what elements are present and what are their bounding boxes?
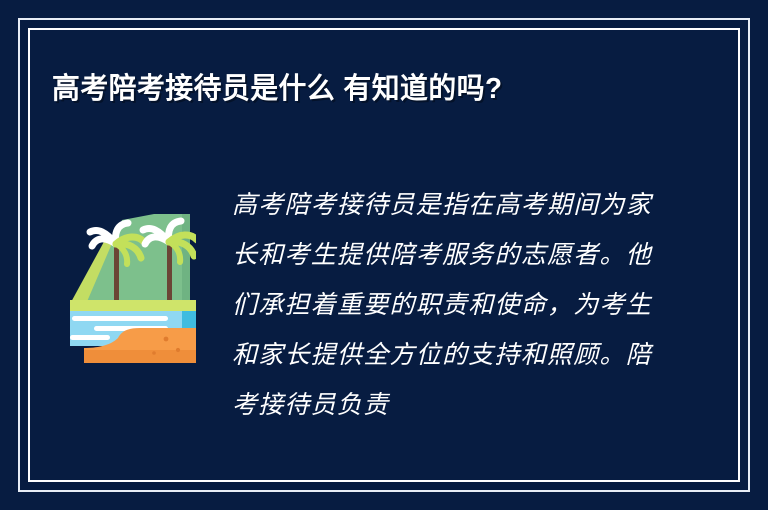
page-title: 高考陪考接待员是什么 有知道的吗?	[52, 64, 686, 114]
article-card: 高考陪考接待员是什么 有知道的吗?	[28, 28, 740, 482]
beach-scene-icon	[70, 208, 196, 363]
article-body-row: 高考陪考接待员是指在高考期间为家长和考生提供陪考服务的志愿者。他们承担着重要的职…	[28, 180, 740, 430]
article-body-text: 高考陪考接待员是指在高考期间为家长和考生提供陪考服务的志愿者。他们承担着重要的职…	[232, 180, 652, 430]
tropical-beach-illustration	[70, 208, 196, 363]
